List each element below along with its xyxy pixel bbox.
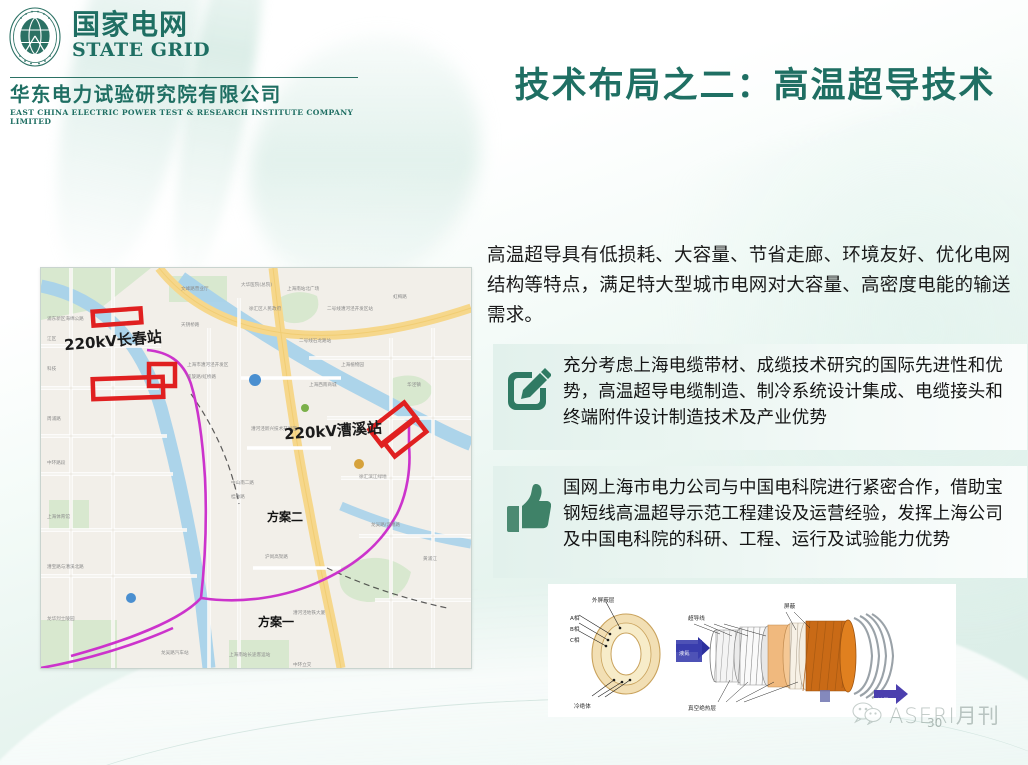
svg-text:虹梅路: 虹梅路 xyxy=(393,293,407,300)
svg-text:A相: A相 xyxy=(570,614,580,622)
svg-text:龙吴路/云锦路: 龙吴路/云锦路 xyxy=(371,521,401,528)
info-card-technology-advantage[interactable]: 充分考虑上海电缆带材、成缆技术研究的国际先进性和优势，高温超导电缆制造、制冷系统… xyxy=(493,344,1027,450)
edit-square-icon xyxy=(505,360,551,414)
watermark-text: ASERI月刊 xyxy=(889,700,1000,730)
svg-text:中山南二路: 中山南二路 xyxy=(231,479,254,486)
svg-text:文峰路营业厅: 文峰路营业厅 xyxy=(181,285,209,292)
slide-number: 30 xyxy=(927,716,942,730)
svg-text:中环立交: 中环立交 xyxy=(293,661,312,668)
svg-text:B相: B相 xyxy=(570,625,580,633)
svg-text:浦东新区海绵公路: 浦东新区海绵公路 xyxy=(47,315,84,322)
organization-name-en: EAST CHINA ELECTRIC POWER TEST & RESEARC… xyxy=(10,108,378,126)
decorative-chip xyxy=(820,690,830,702)
info-card-cooperation[interactable]: 国网上海市电力公司与中国电科院进行紧密合作，借助宝钢短线高温超导示范工程建设及运… xyxy=(493,466,1027,578)
wechat-watermark: ASERI月刊 xyxy=(852,700,1000,730)
info-card-text: 国网上海市电力公司与中国电科院进行紧密合作，借助宝钢短线高温超导示范工程建设及运… xyxy=(563,476,1019,554)
svg-text:沪闵高架路: 沪闵高架路 xyxy=(265,553,288,560)
svg-text:江区: 江区 xyxy=(47,335,57,342)
brand-divider xyxy=(10,77,358,78)
svg-text:上海植物园: 上海植物园 xyxy=(341,361,364,368)
svg-text:上海体育馆: 上海体育馆 xyxy=(47,513,70,520)
svg-text:二号线石龙路站: 二号线石龙路站 xyxy=(299,337,332,344)
svg-text:二号线漕河泾开发区站: 二号线漕河泾开发区站 xyxy=(327,305,373,312)
svg-text:大华医院(总院): 大华医院(总院) xyxy=(241,281,272,288)
svg-text:上海市漕河泾开发区: 上海市漕河泾开发区 xyxy=(187,361,229,368)
thumbs-up-icon xyxy=(505,482,551,536)
map-label-route-plan-two: 方案二 xyxy=(267,508,303,525)
svg-text:漕宝路与漕溪北路: 漕宝路与漕溪北路 xyxy=(47,563,84,570)
svg-text:龙吴路汽车站: 龙吴路汽车站 xyxy=(161,649,189,656)
map-label-route-plan-one: 方案一 xyxy=(258,613,294,630)
organization-name-cn: 华东电力试验研究院有限公司 xyxy=(10,84,378,106)
svg-text:龙华烈士陵园: 龙华烈士陵园 xyxy=(47,615,75,622)
svg-text:天钥桥路: 天钥桥路 xyxy=(181,321,200,328)
svg-text:屏蔽: 屏蔽 xyxy=(784,602,796,610)
svg-text:凯旋路/虹桥路: 凯旋路/虹桥路 xyxy=(187,373,217,380)
svg-text:桂林路: 桂林路 xyxy=(231,493,245,500)
brand-name-en: STATE GRID xyxy=(72,40,210,62)
svg-text:上海南站长途客运站: 上海南站长途客运站 xyxy=(229,651,271,658)
state-grid-globe-emblem-icon xyxy=(8,6,62,68)
svg-text:徐汇区人民政府: 徐汇区人民政府 xyxy=(249,305,282,312)
svg-text:华泾镇: 华泾镇 xyxy=(407,381,421,388)
svg-text:科技: 科技 xyxy=(47,365,57,372)
svg-text:冷绝体: 冷绝体 xyxy=(574,702,591,710)
page-title: 技术布局之二：高温超导技术 xyxy=(500,57,1010,108)
svg-text:黄浦江: 黄浦江 xyxy=(423,555,437,562)
svg-text:真空绝热层: 真空绝热层 xyxy=(688,704,716,712)
brand-name-cn: 国家电网 xyxy=(72,10,210,39)
svg-text:上海西南商城: 上海西南商城 xyxy=(309,381,337,388)
svg-text:超导线: 超导线 xyxy=(688,614,705,622)
route-map-image: 浦东新区海绵公路 江区 科技 周浦路 中环路段 上海体育馆 漕宝路与漕溪北路 龙… xyxy=(41,268,471,668)
info-card-text: 充分考虑上海电缆带材、成缆技术研究的国际先进性和优势，高温超导电缆制造、制冷系统… xyxy=(563,354,1019,432)
svg-text:外屏蔽层: 外屏蔽层 xyxy=(592,596,615,604)
svg-text:周浦路: 周浦路 xyxy=(47,415,61,422)
svg-text:漕河泾地铁大厦: 漕河泾地铁大厦 xyxy=(293,609,326,616)
svg-text:徐汇滨江绿地: 徐汇滨江绿地 xyxy=(359,473,387,480)
route-map-panel[interactable]: 浦东新区海绵公路 江区 科技 周浦路 中环路段 上海体育馆 漕宝路与漕溪北路 龙… xyxy=(40,267,472,669)
presentation-slide: 国家电网 STATE GRID 华东电力试验研究院有限公司 EAST CHINA… xyxy=(0,0,1028,765)
intro-paragraph: 高温超导具有低损耗、大容量、节省走廊、环境友好、优化电网结构等特点，满足特大型城… xyxy=(487,241,1017,331)
brand-logo-block: 国家电网 STATE GRID 华东电力试验研究院有限公司 EAST CHINA… xyxy=(8,6,378,126)
wechat-icon xyxy=(852,701,882,729)
svg-text:液氮: 液氮 xyxy=(679,649,690,657)
svg-text:上海南站北广场: 上海南站北广场 xyxy=(287,285,320,292)
superconducting-cable-diagram: 外屏蔽层 A相 B相 C相 冷绝体 超导线 屏蔽 真空绝热层 液氮 液氮 xyxy=(548,584,956,717)
svg-text:中环路段: 中环路段 xyxy=(47,459,66,466)
svg-text:C相: C相 xyxy=(570,636,580,644)
